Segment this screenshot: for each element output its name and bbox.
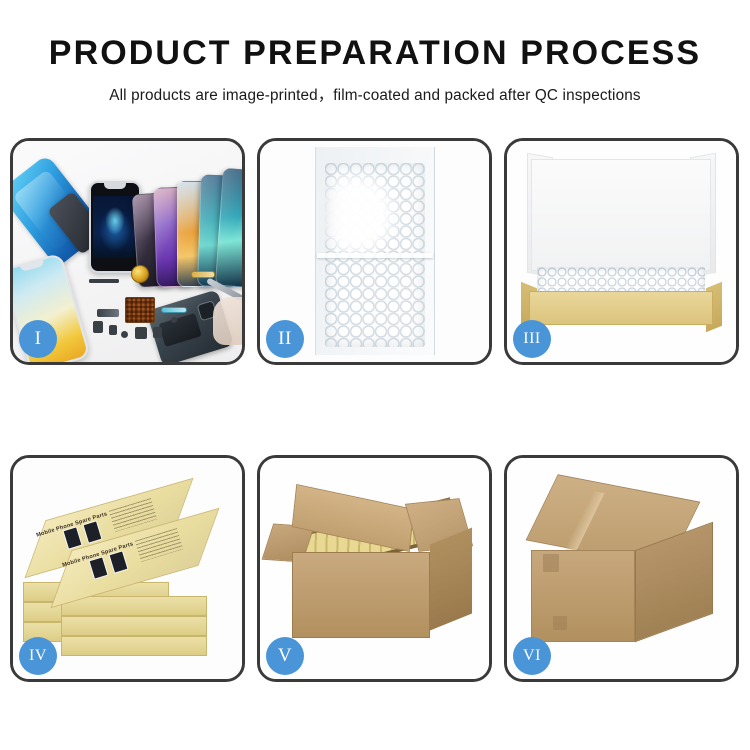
process-steps-grid: I II III	[10, 138, 740, 682]
box-back-wall	[531, 159, 711, 271]
step-badge-2: II	[266, 320, 304, 358]
box-front-panel	[529, 291, 713, 325]
bubble-wrap-bag	[315, 147, 435, 355]
step-badge-3: III	[513, 320, 551, 358]
step-panel-2: II	[257, 138, 492, 365]
flex-cable-icon-2	[161, 307, 187, 313]
page-subtitle: All products are image-printed，film-coat…	[0, 83, 750, 105]
connector-icon-2	[109, 325, 117, 335]
carton-side-panel	[430, 528, 472, 631]
screw-icon-2	[171, 317, 177, 323]
carton-front-panel	[292, 552, 430, 638]
phone-fan-group	[131, 159, 242, 287]
page-header: PRODUCT PREPARATION PROCESS All products…	[0, 0, 750, 105]
step-badge-4: IV	[19, 637, 57, 675]
product-preparation-process-page: PRODUCT PREPARATION PROCESS All products…	[0, 0, 750, 750]
box-stack: Mobile Phone Spare Parts Mobile Phone Sp…	[19, 478, 239, 668]
step-panel-4: Mobile Phone Spare Parts Mobile Phone Sp…	[10, 455, 245, 682]
chip-grid-icon	[125, 297, 155, 323]
speaker-coil-icon	[131, 265, 149, 283]
connector-icon-3	[135, 327, 147, 339]
step-panel-5: V	[257, 455, 492, 682]
connector-icon-1	[93, 321, 103, 333]
stacked-box-edge-6	[61, 636, 207, 656]
antenna-strip-icon	[89, 279, 119, 283]
carton-handle-tab-2	[553, 616, 567, 630]
step-badge-6: VI	[513, 637, 551, 675]
connector-icon-4	[153, 327, 162, 338]
spare-parts-group	[87, 269, 242, 362]
carton-handle-tab-1	[543, 554, 559, 572]
step-badge-1: I	[19, 320, 57, 358]
flex-cable-icon-1	[191, 271, 215, 278]
step-panel-3: III	[504, 138, 739, 365]
bubble-wrap-seam	[317, 253, 433, 258]
stacked-box-edge-5	[61, 616, 207, 636]
stacked-box-edge-4	[61, 596, 207, 616]
screw-icon-1	[121, 331, 128, 338]
hand-icon	[213, 297, 242, 345]
flex-cable-icon-3	[97, 309, 119, 317]
step-badge-5: V	[266, 637, 304, 675]
step-panel-1: I	[10, 138, 245, 365]
step-panel-6: VI	[504, 455, 739, 682]
page-title: PRODUCT PREPARATION PROCESS	[0, 36, 750, 72]
